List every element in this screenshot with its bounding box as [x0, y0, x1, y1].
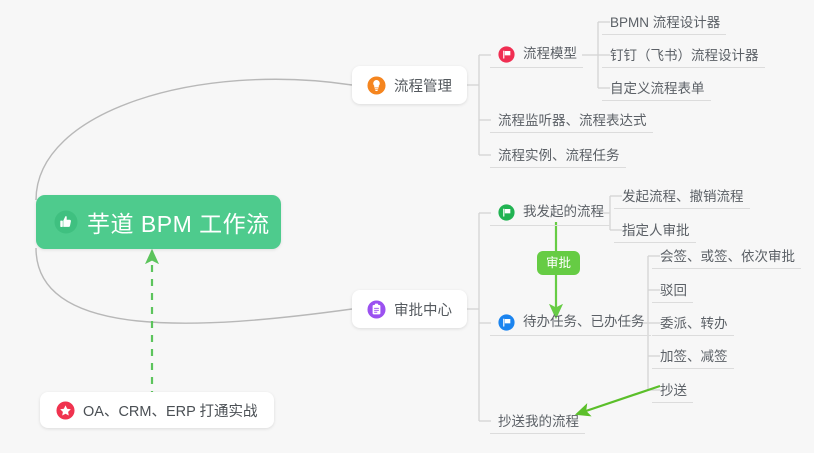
node-carbon-copy[interactable]: 抄送: [652, 376, 693, 403]
node-label-carbon-copy: 抄送: [660, 384, 687, 403]
arrow-copy-to-my-copied: [577, 386, 660, 414]
thumbs-up-icon: [54, 210, 78, 234]
star-icon: [56, 401, 75, 420]
root-node[interactable]: 芋道 BPM 工作流: [36, 195, 281, 249]
node-process-listener-expression[interactable]: 流程监听器、流程表达式: [490, 106, 653, 133]
node-start-cancel-process[interactable]: 发起流程、撤销流程: [614, 182, 750, 209]
node-custom-process-form[interactable]: 自定义流程表单: [602, 74, 711, 101]
node-dingtalk-feishu-designer[interactable]: 钉钉（飞书）流程设计器: [602, 41, 765, 68]
node-label-custom-process-form: 自定义流程表单: [610, 82, 705, 101]
node-bpmn-designer[interactable]: BPMN 流程设计器: [602, 8, 726, 35]
node-my-started-processes[interactable]: 我发起的流程: [490, 199, 610, 226]
node-label-bpmn-designer: BPMN 流程设计器: [610, 16, 720, 35]
branch-node-approval-center[interactable]: 审批中心: [352, 290, 467, 328]
node-label-start-cancel-process: 发起流程、撤销流程: [622, 190, 744, 209]
node-countersign-options[interactable]: 会签、或签、依次审批: [652, 242, 801, 269]
node-label-add-remove-sign: 加签、减签: [660, 350, 728, 369]
branch-label-process-management: 流程管理: [394, 75, 452, 96]
floating-card-integration[interactable]: OA、CRM、ERP 打通实战: [40, 392, 274, 428]
approve-badge: 审批: [537, 251, 580, 275]
node-delegate-transfer[interactable]: 委派、转办: [652, 309, 734, 336]
node-label-copied-to-me-processes: 抄送我的流程: [498, 415, 579, 434]
node-process-model[interactable]: 流程模型: [490, 41, 583, 68]
node-label-designated-approver: 指定人审批: [622, 224, 690, 243]
branch-node-process-management[interactable]: 流程管理: [352, 66, 467, 104]
floating-card-label: OA、CRM、ERP 打通实战: [83, 400, 258, 421]
node-copied-to-me-processes[interactable]: 抄送我的流程: [490, 407, 585, 434]
lightbulb-icon: [367, 76, 386, 95]
node-label-dingtalk-feishu-designer: 钉钉（飞书）流程设计器: [610, 49, 759, 68]
approve-badge-label: 审批: [546, 257, 571, 270]
node-todo-done-tasks[interactable]: 待办任务、已办任务: [490, 309, 651, 336]
branch-label-approval-center: 审批中心: [394, 299, 452, 320]
node-reject[interactable]: 驳回: [652, 276, 693, 303]
node-label-process-model: 流程模型: [523, 47, 577, 61]
node-label-reject: 驳回: [660, 284, 687, 303]
node-label-my-started-processes: 我发起的流程: [523, 205, 604, 219]
flag-icon: [498, 46, 515, 63]
connector-root-to-approval-center: [36, 248, 352, 323]
root-node-label: 芋道 BPM 工作流: [87, 205, 270, 239]
node-label-process-instance-task: 流程实例、流程任务: [498, 149, 620, 168]
node-label-process-listener-expression: 流程监听器、流程表达式: [498, 114, 647, 133]
node-process-instance-task[interactable]: 流程实例、流程任务: [490, 141, 626, 168]
flag-icon: [498, 204, 515, 221]
node-add-remove-sign[interactable]: 加签、减签: [652, 342, 734, 369]
clipboard-icon: [367, 300, 386, 319]
node-label-delegate-transfer: 委派、转办: [660, 317, 728, 336]
node-label-todo-done-tasks: 待办任务、已办任务: [523, 315, 645, 329]
flag-icon: [498, 314, 515, 331]
mindmap-canvas: 芋道 BPM 工作流 流程管理 流程模型 BPMN 流程设计器 钉钉（飞书: [0, 0, 814, 453]
connector-root-to-process-mgmt: [36, 79, 352, 200]
node-label-countersign-options: 会签、或签、依次审批: [660, 250, 795, 269]
node-designated-approver[interactable]: 指定人审批: [614, 216, 696, 243]
